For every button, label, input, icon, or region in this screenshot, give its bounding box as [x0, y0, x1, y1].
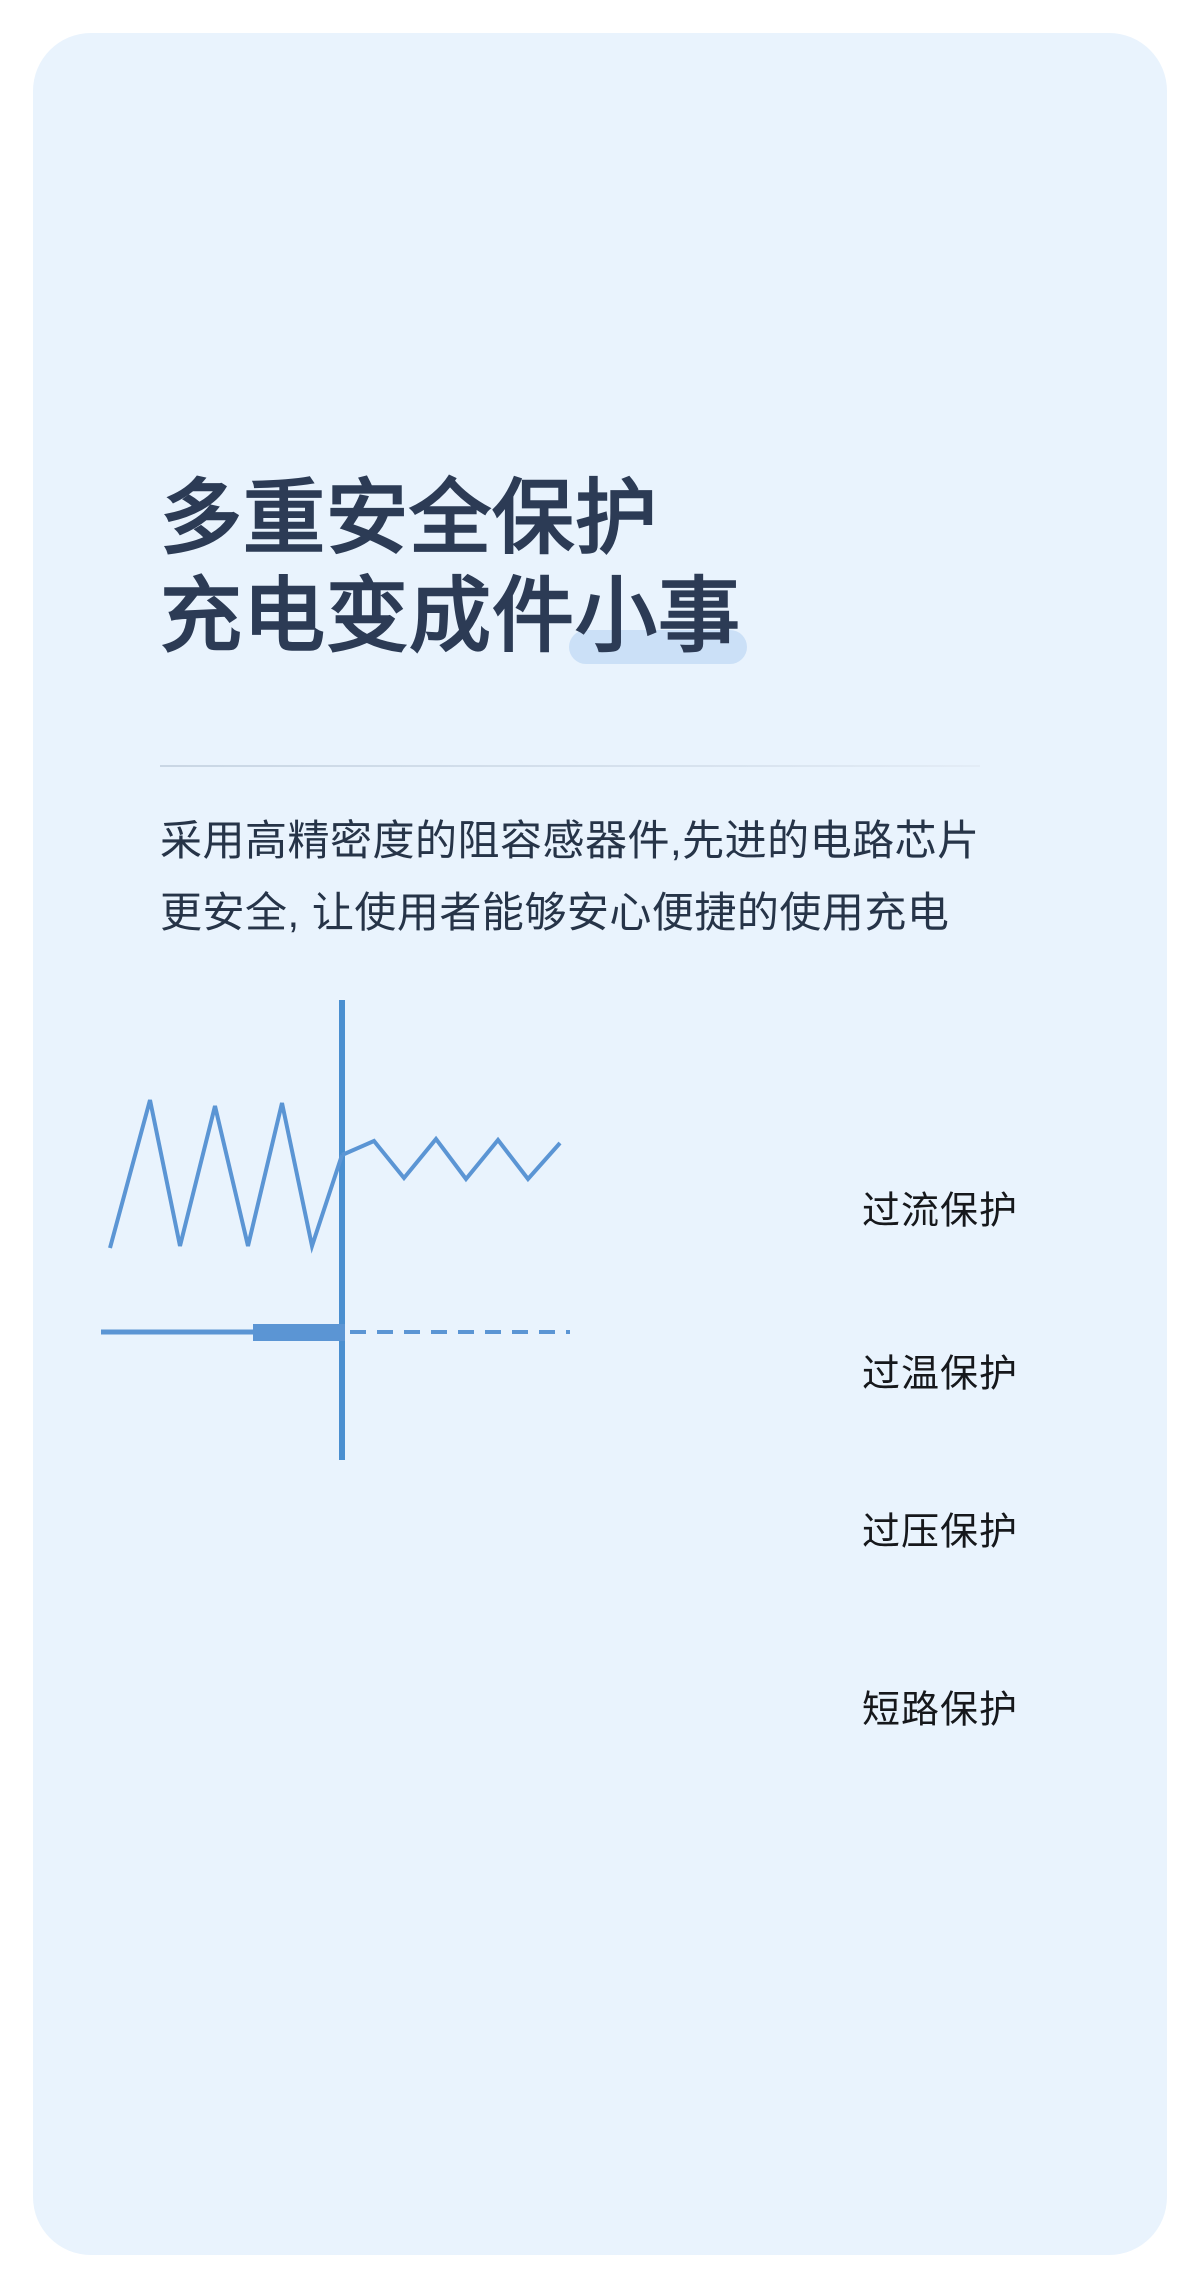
overvoltage-right-zigzag — [342, 1139, 560, 1179]
row-overvoltage — [110, 1100, 560, 1248]
headline-line-1: 多重安全保护 — [160, 470, 1060, 568]
body-line-1: 采用高精密度的阻容感器件,先进的电路芯片 — [160, 805, 1080, 877]
protection-diagram — [0, 1000, 1200, 2120]
body-line-2: 更安全, 让使用者能够安心便捷的使用充电 — [160, 877, 1080, 949]
shortcircuit-thick-bar — [253, 1324, 345, 1341]
page-root: 多重安全保护 充电变成件小事 采用高精密度的阻容感器件,先进的电路芯片 更安全,… — [0, 0, 1200, 2288]
body-copy: 采用高精密度的阻容感器件,先进的电路芯片 更安全, 让使用者能够安心便捷的使用充… — [160, 805, 1080, 949]
headline-line-2: 充电变成件小事 — [160, 568, 1060, 666]
headline-highlight: 小事 — [575, 568, 741, 666]
row-shortcircuit — [101, 1324, 570, 1341]
overvoltage-left-zigzag — [110, 1100, 342, 1248]
headline-block: 多重安全保护 充电变成件小事 — [160, 470, 1060, 666]
headline-line-2-plain: 充电变成件 — [160, 571, 575, 662]
section-divider — [160, 765, 980, 767]
